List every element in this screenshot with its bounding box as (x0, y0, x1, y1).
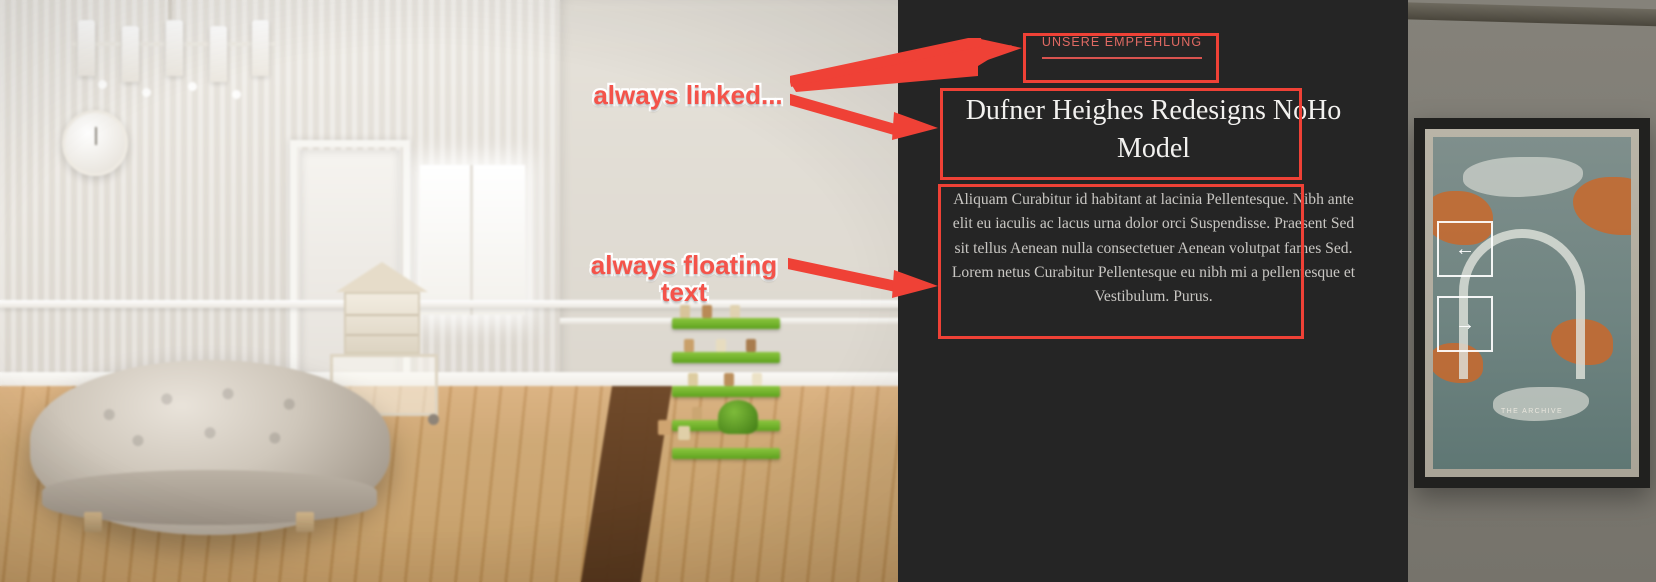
dollhouse-toy (336, 262, 428, 357)
wall-clock (62, 110, 128, 176)
poster-caption: THE ARCHIVE (1501, 408, 1563, 415)
next-slide-button[interactable]: → (1437, 296, 1493, 352)
floor-toy (658, 420, 671, 435)
chandelier (70, 20, 280, 110)
screenshot-stage: THE ARCHIVE UNSERE EMPFEHLUNG Dufner Hei… (0, 0, 1656, 582)
kicker-wrapper: UNSERE EMPFEHLUNG (1024, 33, 1220, 59)
potted-plant (718, 400, 758, 434)
previous-slide-button[interactable]: ← (1437, 221, 1493, 277)
slide-background-photo-left (0, 0, 950, 582)
ceiling-beam (1408, 2, 1656, 27)
cart-wheel (428, 414, 439, 425)
floor-toy (678, 426, 690, 440)
annotation-label-floating: always floating text (578, 252, 790, 307)
window-mullion (470, 165, 473, 315)
slide-headline[interactable]: Dufner Heighes Redesigns NoHo Model (946, 92, 1361, 168)
slide-kicker-label[interactable]: UNSERE EMPFEHLUNG (1042, 35, 1202, 59)
slide-background-photo-right: THE ARCHIVE (1408, 0, 1656, 582)
arrow-right-icon: → (1455, 314, 1475, 334)
annotation-label-linked: always linked... (583, 82, 793, 109)
slide-body-text: Aliquam Curabitur id habitant at lacinia… (946, 188, 1361, 310)
arrow-left-icon: ← (1455, 239, 1475, 259)
chair-rail (0, 300, 950, 308)
slider-content-panel: UNSERE EMPFEHLUNG Dufner Heighes Redesig… (898, 0, 1408, 582)
ottoman-leg (296, 512, 314, 532)
ottoman-leg (84, 512, 102, 532)
